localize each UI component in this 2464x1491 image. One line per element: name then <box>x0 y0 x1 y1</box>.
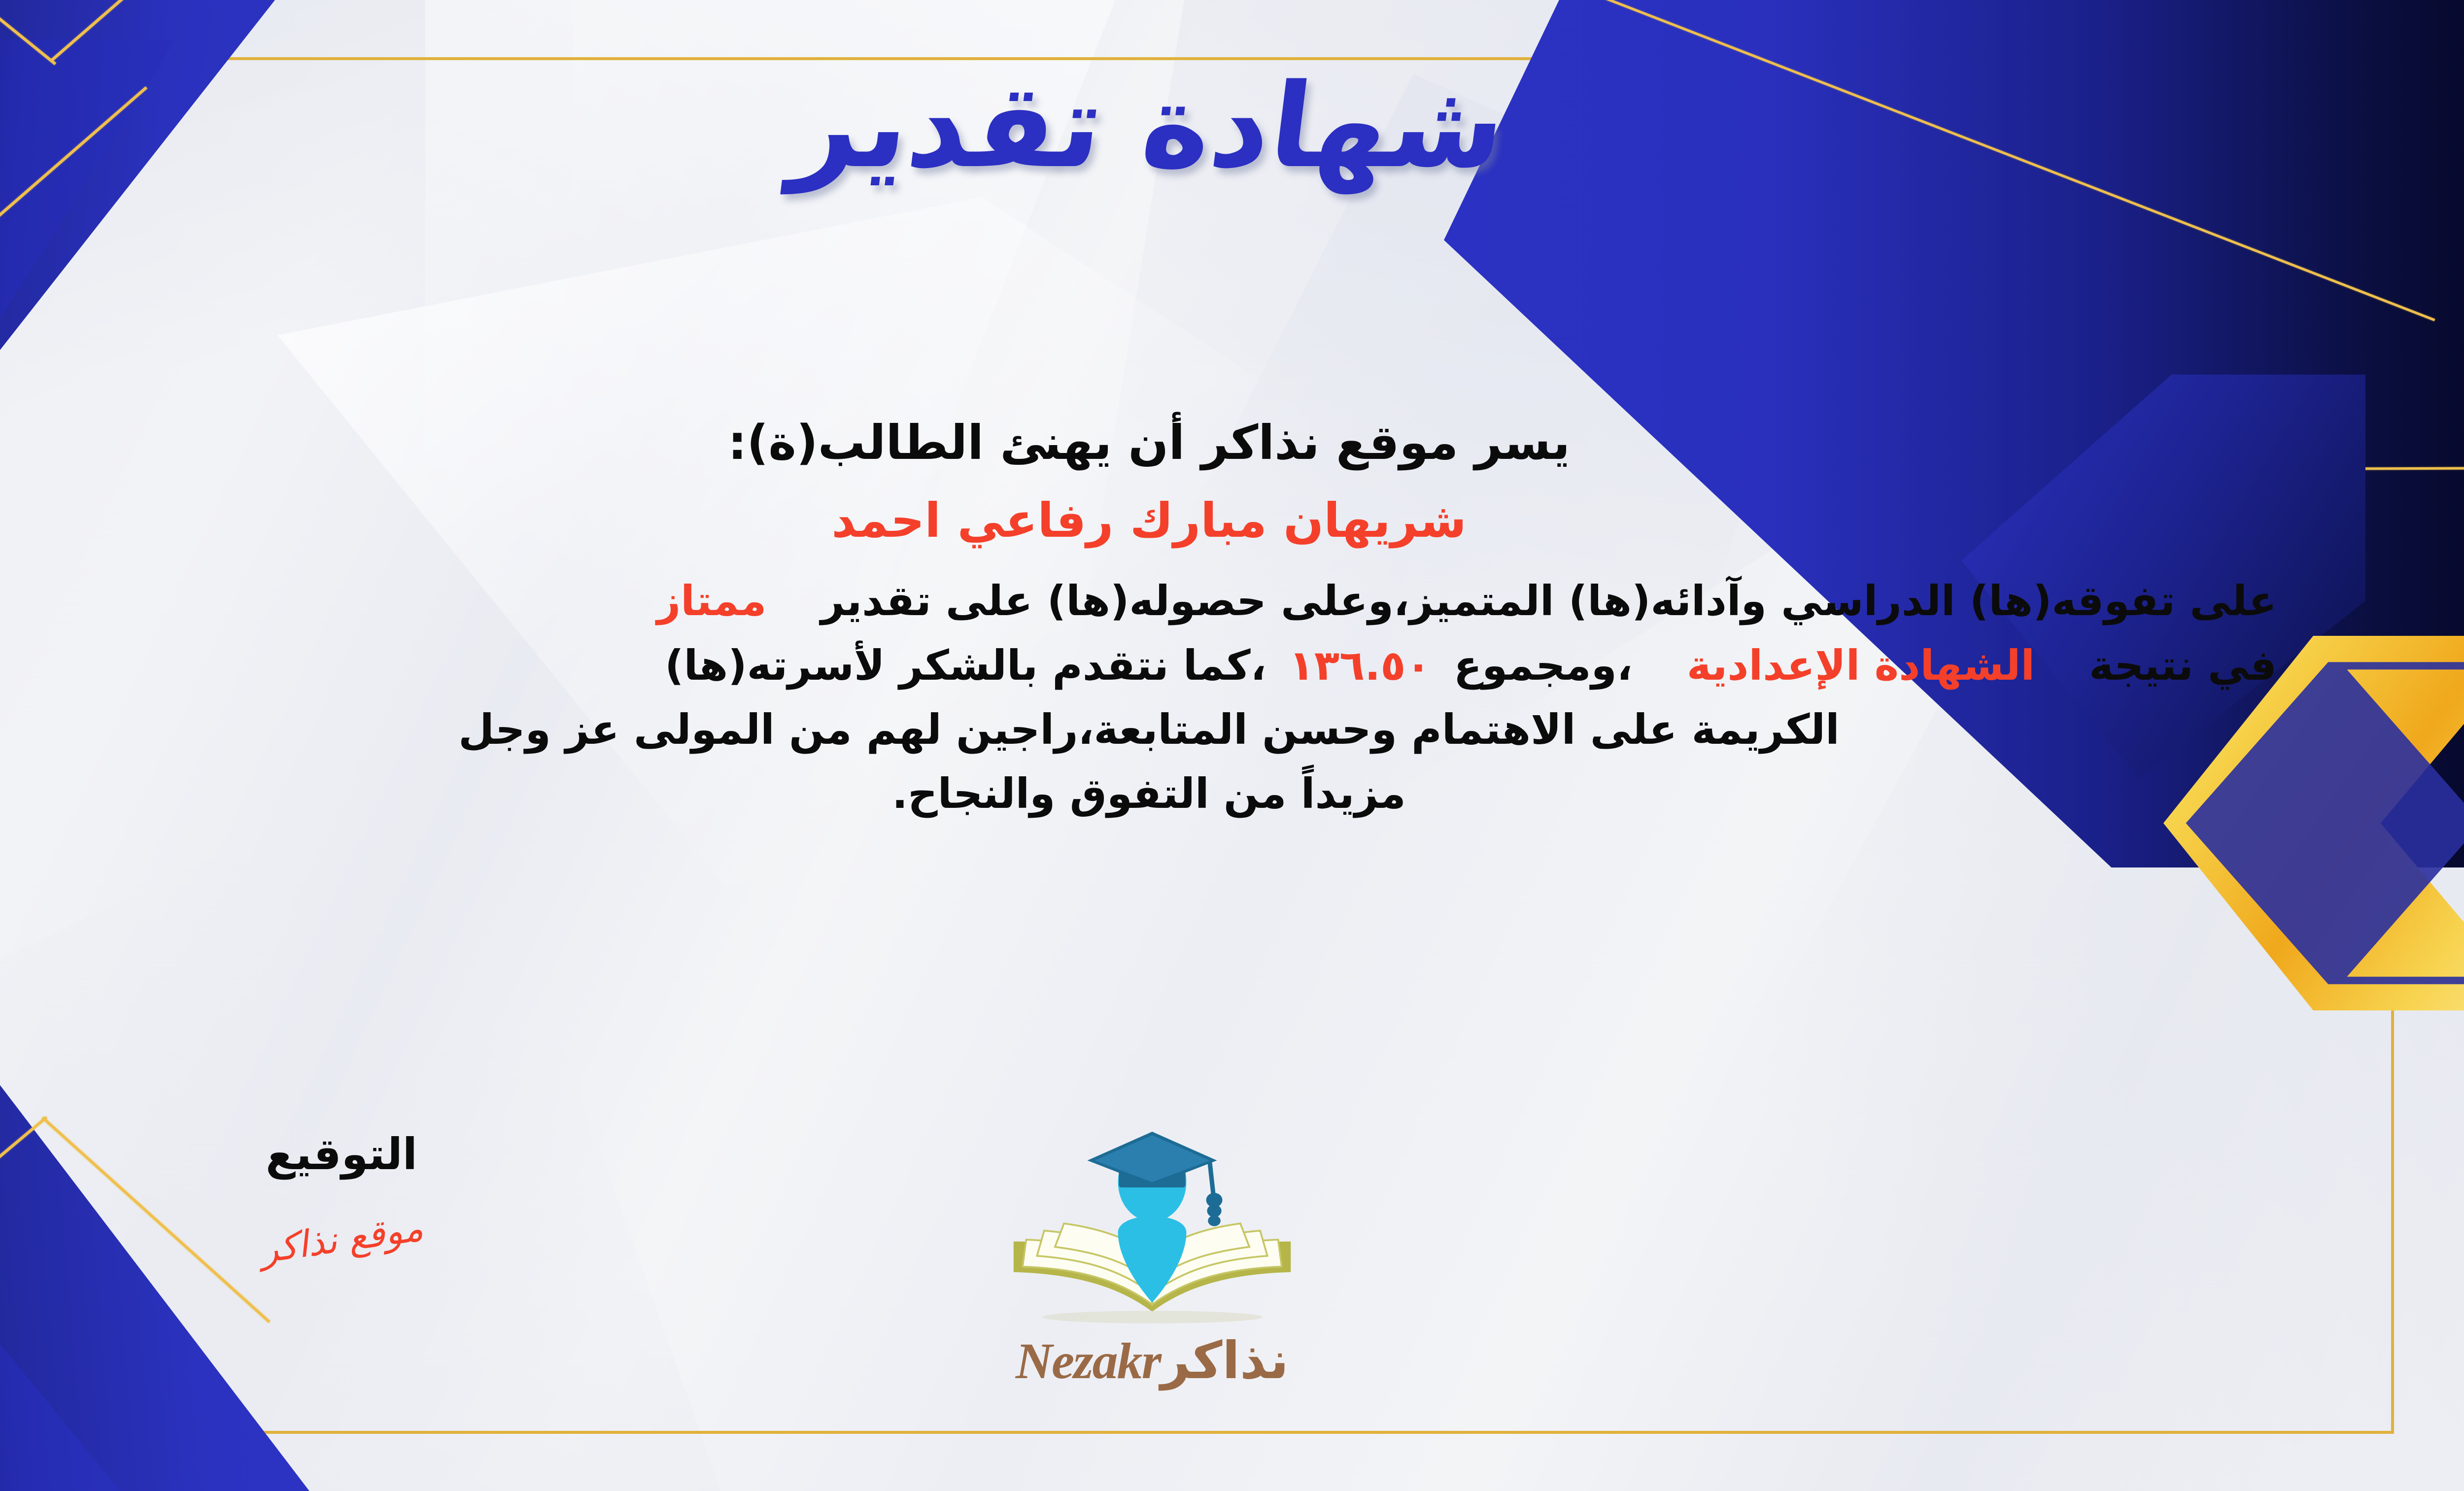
certificate-page: شهادة تقدير يسر موقع نذاكر أن يهنئ الطال… <box>0 0 2464 1491</box>
citation-text-2c: ،كما نتقدم بالشكر لأسرته(ها) <box>665 641 1266 690</box>
logo-wordmark: نذاكرNezakr <box>960 1330 1344 1390</box>
greeting-line: يسر موقع نذاكر أن يهنئ الطالب(ة): <box>21 409 2277 476</box>
site-logo: نذاكرNezakr <box>960 1126 1344 1417</box>
citation-row-2: في نتيجةالشهادة الإعدادية،ومجموع١٣٦.٥٠،ك… <box>21 633 2277 697</box>
citation-paragraph: على تفوقه(ها) الدراسي وآدائه(ها) المتميز… <box>21 569 2277 826</box>
certificate-body: يسر موقع نذاكر أن يهنئ الطالب(ة): شريهان… <box>21 409 2277 826</box>
citation-row-4: مزيداً من التفوق والنجاح. <box>21 762 2277 826</box>
citation-text-1: على تفوقه(ها) الدراسي وآدائه(ها) المتميز… <box>821 577 2277 625</box>
signature-label: التوقيع <box>169 1129 514 1179</box>
citation-text-2a: في نتيجة <box>2089 641 2277 690</box>
citation-row-3: الكريمة على الاهتمام وحسن المتابعة،راجين… <box>21 697 2277 762</box>
exam-name: الشهادة الإعدادية <box>1687 641 2035 690</box>
grade-value: ممتاز <box>657 577 767 625</box>
gold-hairline <box>51 0 276 62</box>
signature-block: التوقيع موقع نذاكر <box>169 1129 514 1260</box>
citation-text-2b: ،ومجموع <box>1454 641 1633 690</box>
total-score: ١٣٦.٥٠ <box>1289 641 1431 690</box>
citation-row-1: على تفوقه(ها) الدراسي وآدائه(ها) المتميز… <box>21 569 2277 633</box>
certificate-title-wrap: شهادة تقدير <box>0 59 2464 194</box>
gold-hairline <box>0 0 56 65</box>
certificate-title: شهادة تقدير <box>785 59 1513 194</box>
logo-text-arabic: نذاكر <box>1161 1330 1289 1390</box>
logo-text-latin: Nezakr <box>1016 1333 1161 1389</box>
logo-svg <box>960 1126 1344 1333</box>
logo-artwork <box>960 1126 1344 1333</box>
student-name: شريهان مبارك رفاعي احمد <box>21 493 2277 548</box>
